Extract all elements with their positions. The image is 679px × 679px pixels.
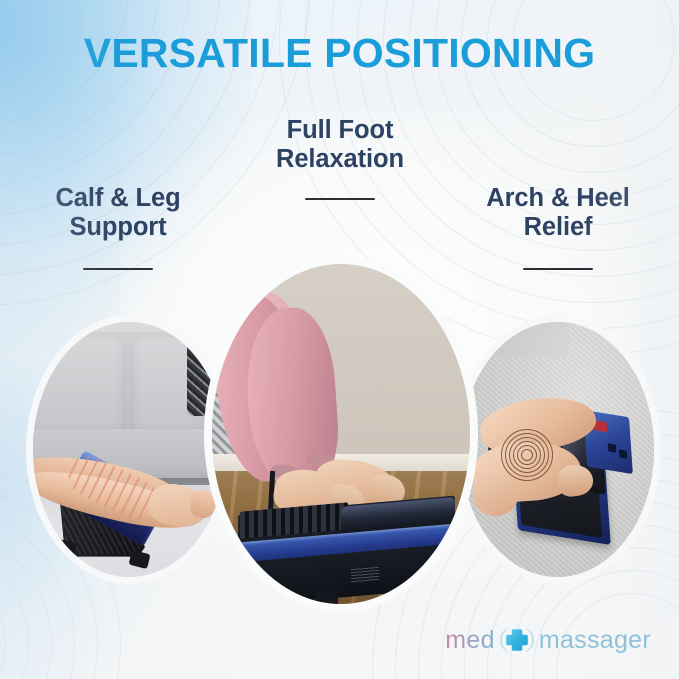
feature-caption-arch-heel-relief: Arch & Heel Relief xyxy=(452,184,664,270)
brand-logo: med massager xyxy=(445,623,651,657)
photo-scene-feet-on-massager xyxy=(212,264,470,604)
vibration-ripple-icon xyxy=(496,427,558,483)
caption-divider xyxy=(523,268,593,270)
feature-title: Arch & Heel Relief xyxy=(452,184,664,242)
brand-word-massager: massager xyxy=(539,628,651,653)
photo-scene-sofa-legs xyxy=(33,322,226,577)
feature-title: Full Foot Relaxation xyxy=(234,116,446,174)
page-title: VERSATILE POSITIONING xyxy=(0,33,679,74)
product-feature-poster: VERSATILE POSITIONING Calf & Leg Support… xyxy=(0,0,679,679)
brand-word-med: med xyxy=(445,628,495,653)
feature-caption-full-foot-relaxation: Full Foot Relaxation xyxy=(234,116,446,200)
caption-divider xyxy=(83,268,153,270)
feature-caption-calf-leg-support: Calf & Leg Support xyxy=(18,184,218,270)
medical-cross-icon xyxy=(500,623,534,657)
feature-title: Calf & Leg Support xyxy=(18,184,218,242)
feature-photo-arch-heel-relief xyxy=(461,322,654,577)
caption-divider xyxy=(305,198,375,200)
photo-scene-arch-relief xyxy=(461,322,654,577)
feature-photo-full-foot-relaxation xyxy=(212,264,470,604)
feature-photo-calf-leg-support xyxy=(33,322,226,577)
